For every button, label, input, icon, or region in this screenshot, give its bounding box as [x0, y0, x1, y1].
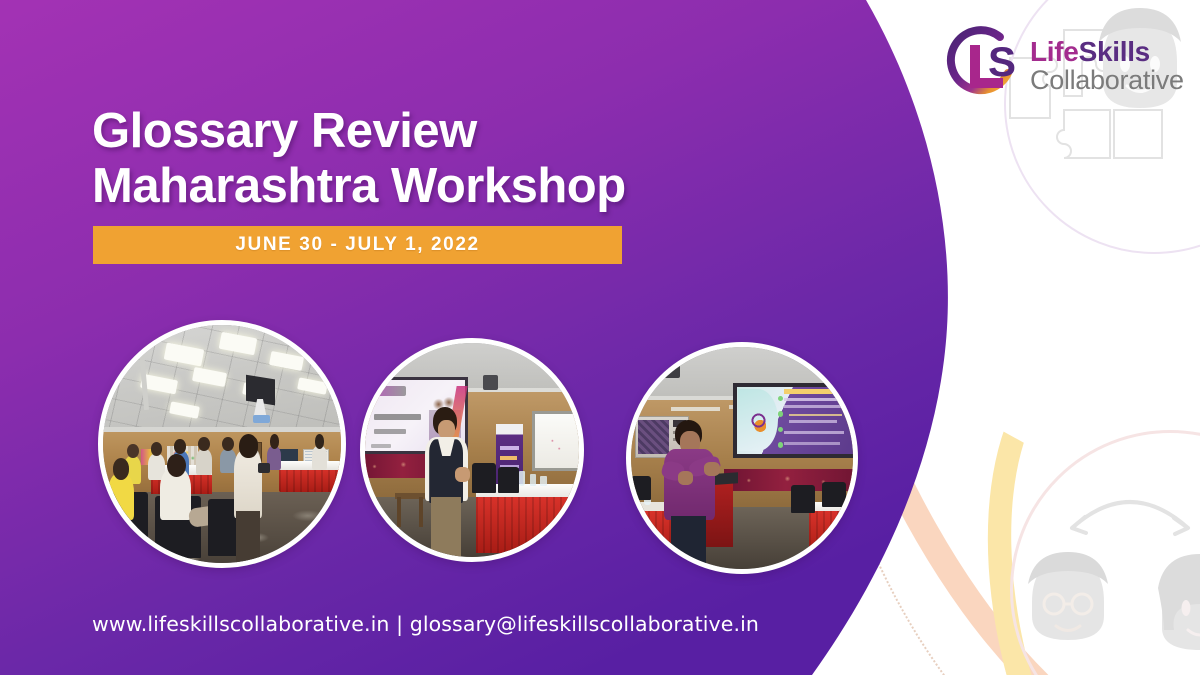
logo-word-collaborative: Collaborative	[1030, 67, 1184, 94]
poster-canvas: S LifeSkills Collaborative Glossary Revi…	[0, 0, 1200, 675]
title-line-2: Maharashtra Workshop	[92, 159, 792, 214]
logo-wordmark-line1: LifeSkills	[1030, 38, 1184, 66]
photo-presenter-kurta	[626, 342, 858, 574]
logo-word-skills: Skills	[1079, 36, 1150, 67]
title-line-1: Glossary Review	[92, 104, 792, 159]
svg-text:S: S	[988, 38, 1016, 85]
contact-footer: www.lifeskillscollaborative.in | glossar…	[92, 612, 759, 636]
logo-word-life: Life	[1030, 36, 1079, 67]
lifeskills-collaborative-logo-mark: S	[944, 24, 1024, 104]
brand-logo: S LifeSkills Collaborative	[944, 18, 1184, 110]
date-badge: JUNE 30 - JULY 1, 2022	[93, 226, 622, 264]
page-title: Glossary Review Maharashtra Workshop	[92, 104, 792, 214]
photo-workshop-participants	[98, 320, 346, 568]
photo-presenter-vest	[360, 338, 584, 562]
